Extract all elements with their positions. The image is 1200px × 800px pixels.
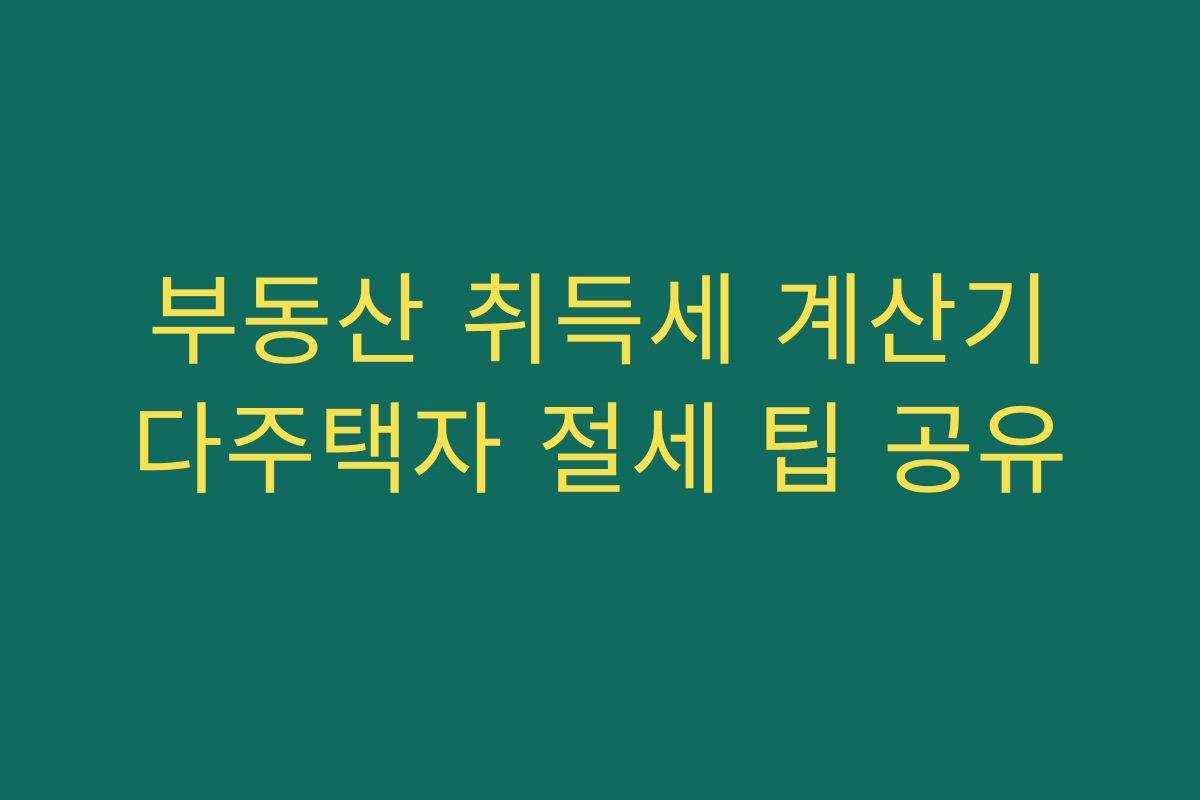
title-line-2: 다주택자 절세 팁 공유 [131, 386, 1069, 515]
title-block: 부동산 취득세 계산기 다주택자 절세 팁 공유 [0, 257, 1200, 515]
title-line-1: 부동산 취득세 계산기 [148, 257, 1053, 386]
thumbnail-canvas: 부동산 취득세 계산기 다주택자 절세 팁 공유 [0, 0, 1200, 800]
